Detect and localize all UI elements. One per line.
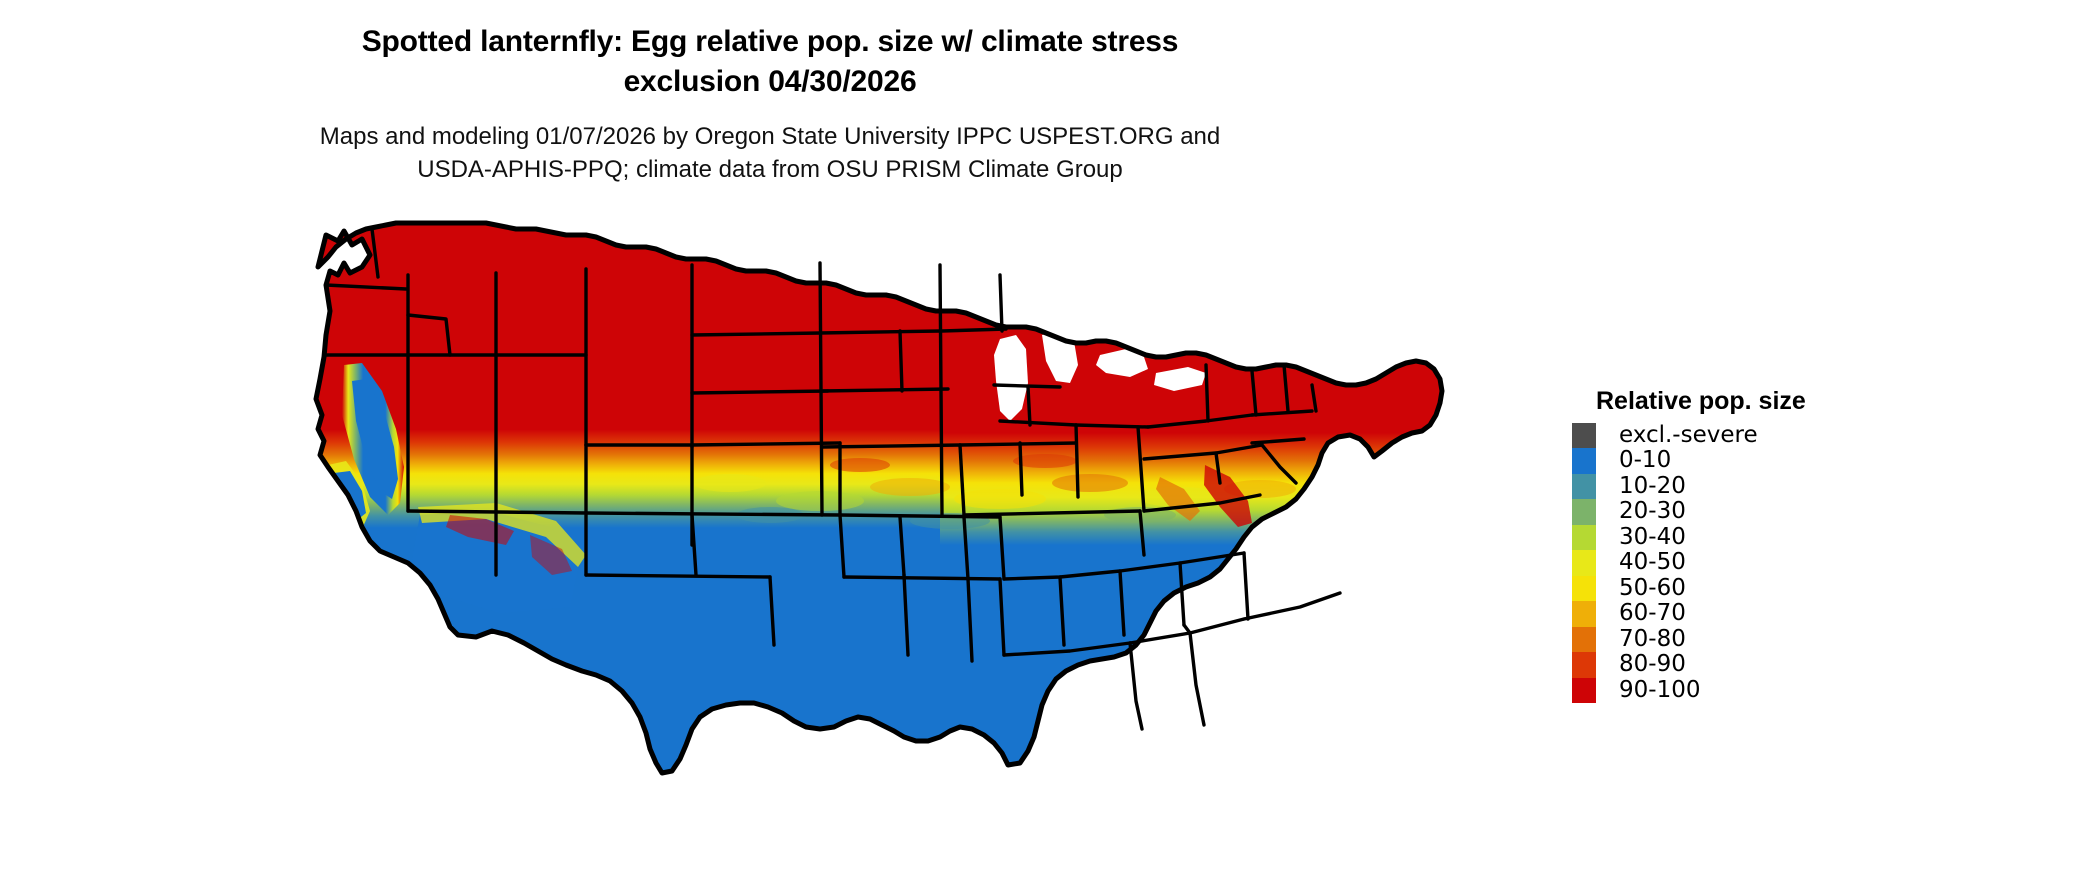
legend-entry: 90-100: [1572, 678, 1902, 704]
figure-title: Spotted lanternfly: Egg relative pop. si…: [0, 22, 1540, 102]
legend-color-swatch: [1572, 678, 1596, 704]
title-line-1: Spotted lanternfly: Egg relative pop. si…: [0, 22, 1540, 62]
legend-color-swatch: [1572, 499, 1596, 525]
legend-entry-label: 90-100: [1619, 679, 1700, 702]
legend-entry-label: 70-80: [1619, 628, 1686, 651]
legend-entry-label: 80-90: [1619, 653, 1686, 676]
legend-color-swatch: [1572, 423, 1596, 449]
legend-entry: 70-80: [1572, 627, 1902, 653]
legend-color-swatch: [1572, 525, 1596, 551]
legend-entry-label: 60-70: [1619, 602, 1686, 625]
title-line-2: exclusion 04/30/2026: [0, 62, 1540, 102]
legend-entry: 10-20: [1572, 474, 1902, 500]
legend-entry-label: 40-50: [1619, 551, 1686, 574]
legend-color-swatch: [1572, 448, 1596, 474]
legend-entry: 20-30: [1572, 499, 1902, 525]
legend-entry: 50-60: [1572, 576, 1902, 602]
map-figure: Spotted lanternfly: Egg relative pop. si…: [0, 0, 2100, 892]
legend-entry-label: 30-40: [1619, 526, 1686, 549]
us-choropleth-map: [300, 215, 1540, 875]
legend-entry: excl.-severe: [1572, 423, 1902, 449]
figure-subtitle: Maps and modeling 01/07/2026 by Oregon S…: [0, 120, 1540, 186]
legend-entry-label: 50-60: [1619, 577, 1686, 600]
legend-entry: 80-90: [1572, 652, 1902, 678]
map-canvas: [300, 215, 1540, 875]
legend-color-swatch: [1572, 652, 1596, 678]
legend-color-swatch: [1572, 474, 1596, 500]
legend-entry-label: 20-30: [1619, 500, 1686, 523]
subtitle-line-1: Maps and modeling 01/07/2026 by Oregon S…: [0, 120, 1540, 153]
legend-entry: 30-40: [1572, 525, 1902, 551]
legend-entry: 60-70: [1572, 601, 1902, 627]
legend-entry: 40-50: [1572, 550, 1902, 576]
legend-color-swatch: [1572, 576, 1596, 602]
legend-entry-label: excl.-severe: [1619, 424, 1758, 447]
legend-color-swatch: [1572, 627, 1596, 653]
legend-entry-label: 0-10: [1619, 449, 1671, 472]
legend-entry-label: 10-20: [1619, 475, 1686, 498]
subtitle-line-2: USDA-APHIS-PPQ; climate data from OSU PR…: [0, 153, 1540, 186]
legend-entry: 0-10: [1572, 448, 1902, 474]
map-fill-layer: [300, 215, 1540, 875]
legend-color-swatch: [1572, 601, 1596, 627]
legend-title: Relative pop. size: [1596, 388, 1902, 416]
legend-entry-list: excl.-severe0-1010-2020-3030-4040-5050-6…: [1572, 423, 1902, 704]
legend-color-swatch: [1572, 550, 1596, 576]
map-legend: Relative pop. size excl.-severe0-1010-20…: [1572, 388, 1902, 703]
